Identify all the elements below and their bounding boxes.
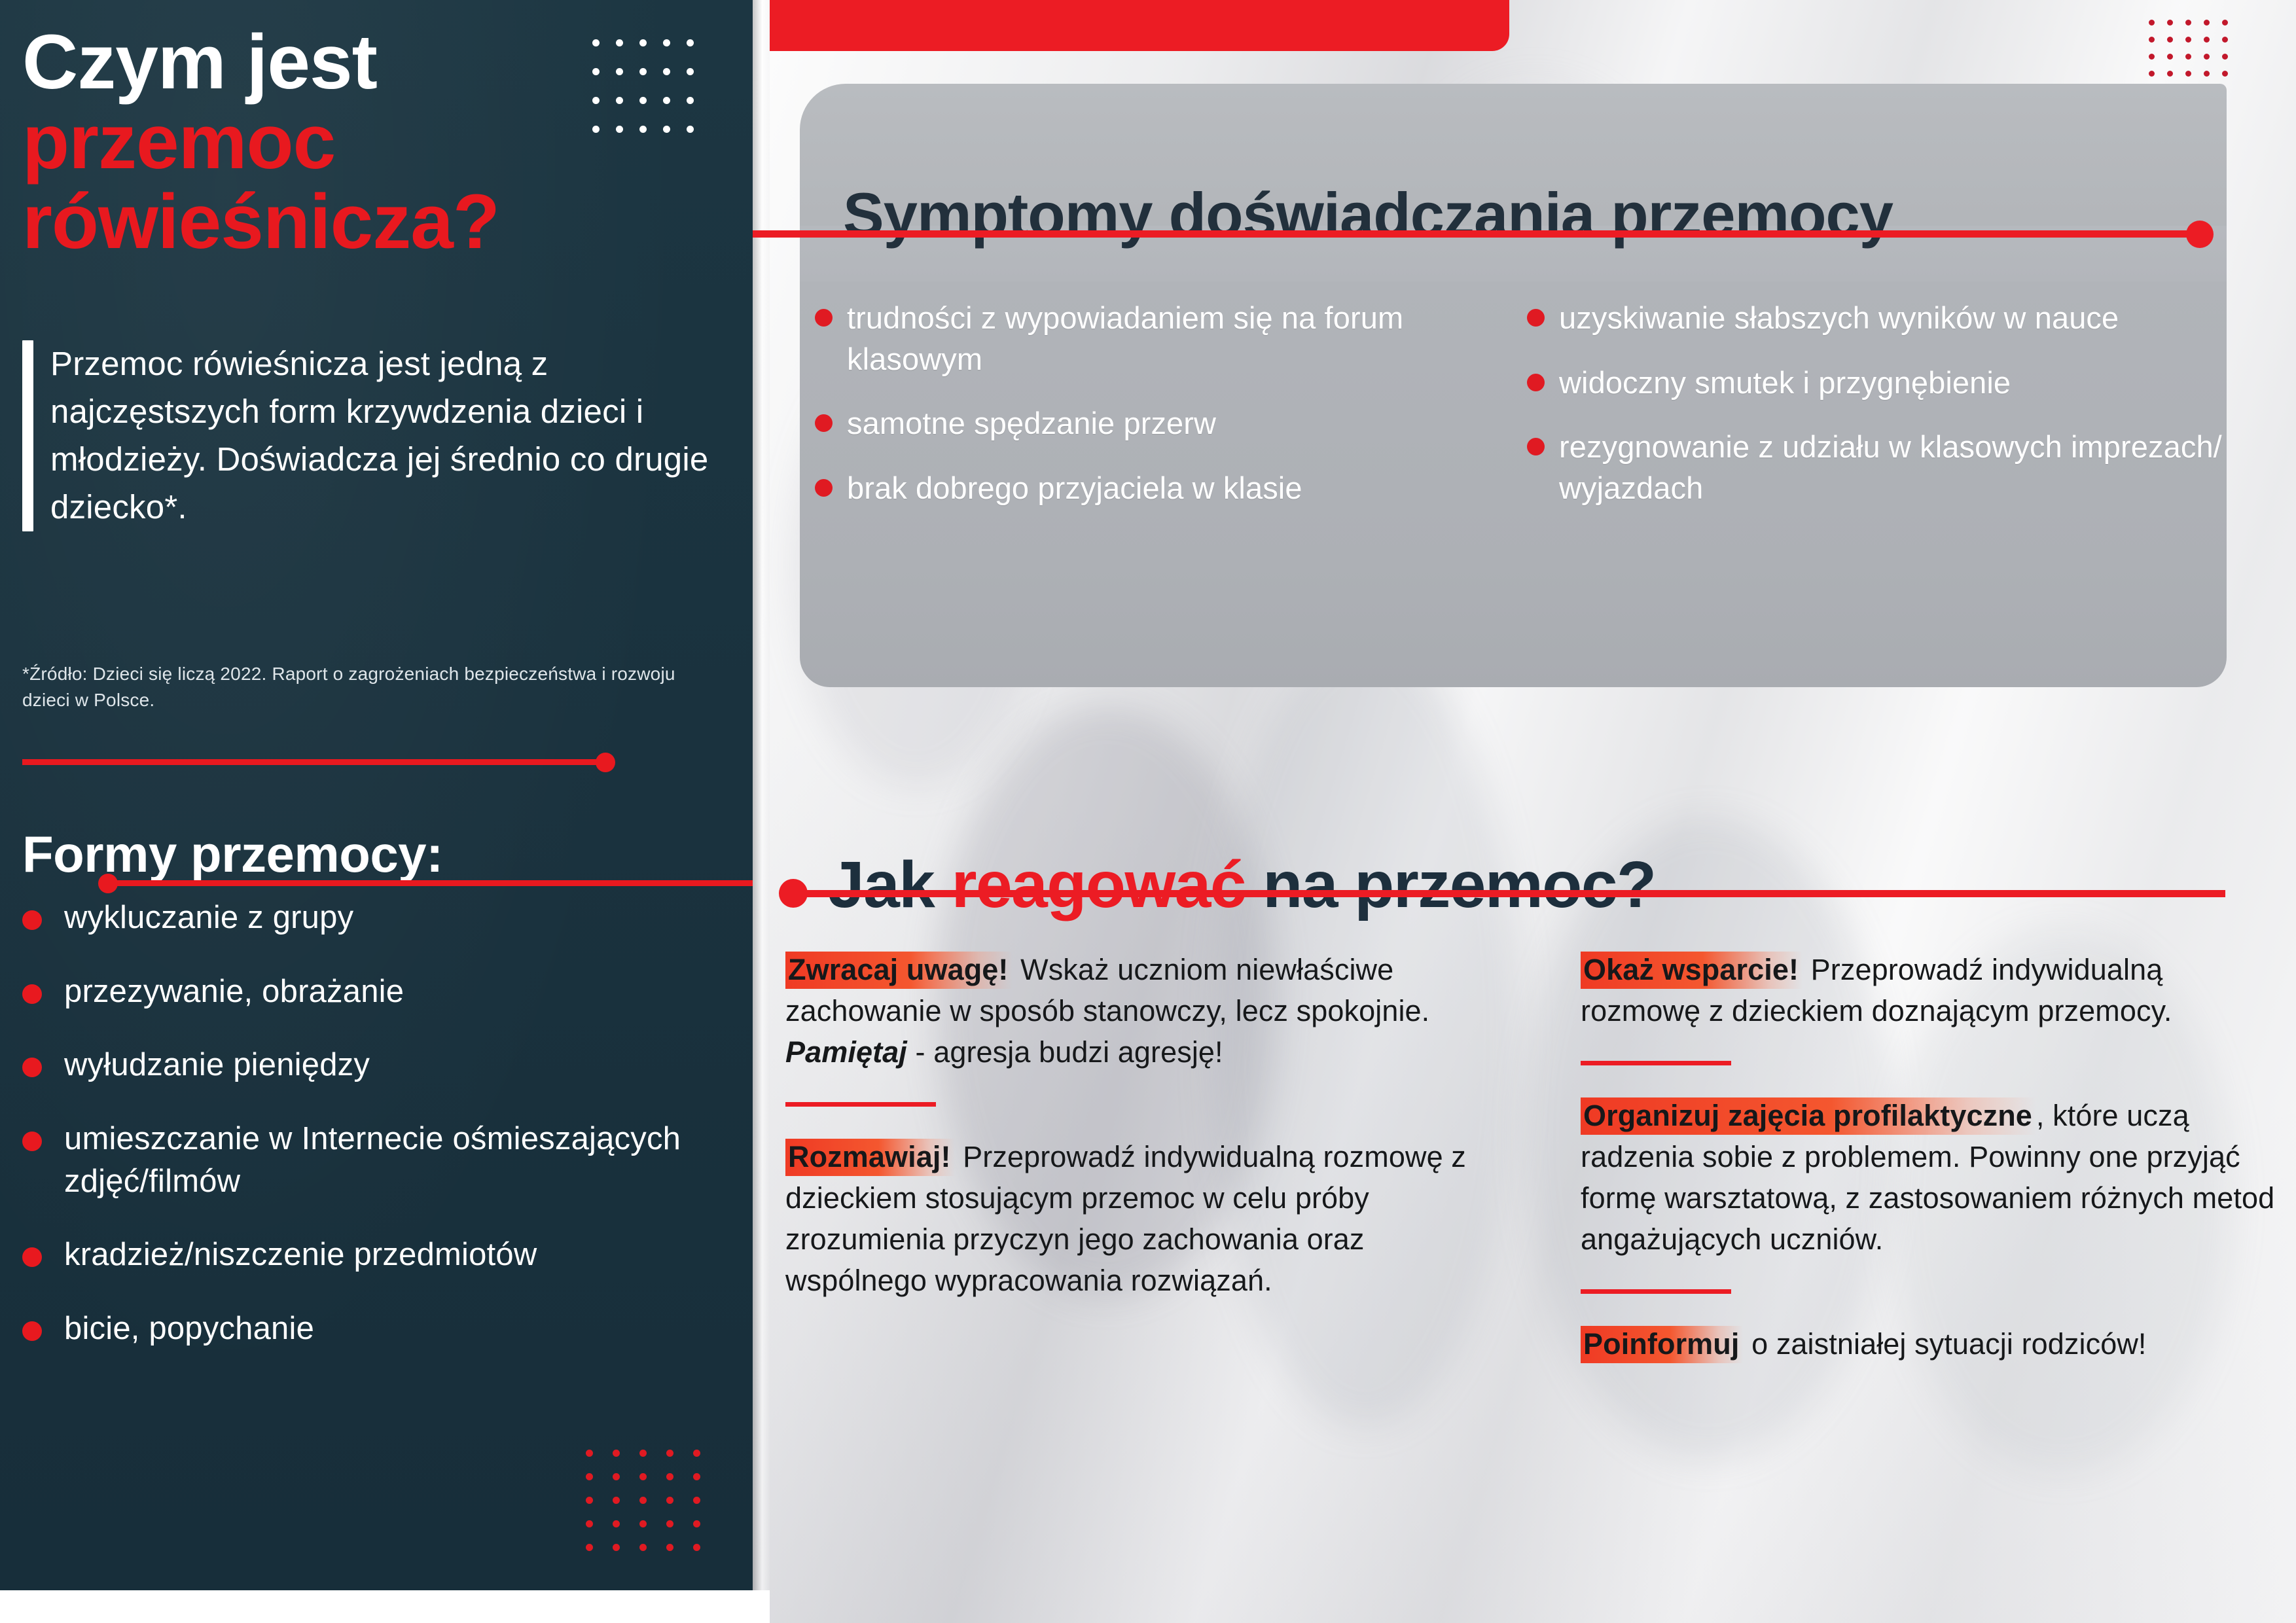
list-item: wykluczanie z grupy xyxy=(22,897,729,939)
accent-bar xyxy=(22,340,33,531)
advice-body-2: - agresja budzi agresję! xyxy=(907,1035,1223,1069)
advice-column-right: Okaż wsparcie! Przeprowadź indywidualną … xyxy=(1581,919,2291,1394)
divider-dot-right xyxy=(596,753,615,772)
symptoms-column-right: uzyskiwanie słabszych wyników w nauce wi… xyxy=(1516,298,2229,532)
list-item-label: przezywanie, obrażanie xyxy=(64,971,404,1013)
list-item: brak dobrego przyjaciela w klasie xyxy=(815,468,1516,509)
advice-block: Poinformuj o zaistniałej sytuacji rodzic… xyxy=(1581,1323,2291,1364)
lead-paragraph-block: Przemoc rówieśnicza jest jedną z najczęs… xyxy=(22,340,709,531)
poster-canvas: Czym jest przemoc rówieśnicza? Przemoc r… xyxy=(0,0,2296,1623)
bullet-icon xyxy=(22,1132,42,1151)
advice-lead: Organizuj zajęcia profilaktyczne xyxy=(1581,1097,2036,1135)
bullet-icon xyxy=(815,479,833,497)
advice-lead: Rozmawiaj! xyxy=(785,1139,955,1176)
list-item-label: trudności z wypowiadaniem się na forum k… xyxy=(847,298,1516,380)
list-item: umieszczanie w Internecie ośmieszających… xyxy=(22,1118,729,1202)
list-item-label: rezygnowanie z udziału w klasowych impre… xyxy=(1559,427,2229,508)
bullet-icon xyxy=(22,1321,42,1341)
panel-fold-edge xyxy=(753,0,770,1623)
list-item: samotne spędzanie przerw xyxy=(815,403,1516,444)
bullet-icon xyxy=(22,1247,42,1267)
list-item: rezygnowanie z udziału w klasowych impre… xyxy=(1527,427,2229,508)
list-item-label: brak dobrego przyjaciela w klasie xyxy=(847,468,1302,509)
symptoms-column-left: trudności z wypowiadaniem się na forum k… xyxy=(815,298,1516,532)
list-item: trudności z wypowiadaniem się na forum k… xyxy=(815,298,1516,380)
list-item-label: samotne spędzanie przerw xyxy=(847,403,1216,444)
advice-text: Rozmawiaj! Przeprowadź indywidualną rozm… xyxy=(785,1136,1496,1301)
page-bottom-margin xyxy=(0,1590,770,1623)
page-title: Czym jest przemoc rówieśnicza? xyxy=(22,23,611,262)
advice-text: Poinformuj o zaistniałej sytuacji rodzic… xyxy=(1581,1323,2291,1364)
bullet-icon xyxy=(22,910,42,930)
advice-columns: Zwracaj uwagę! Wskaż uczniom niewłaściwe… xyxy=(785,919,2291,1394)
list-item-label: widoczny smutek i przygnębienie xyxy=(1559,363,2011,404)
bullet-icon xyxy=(1527,309,1545,327)
lead-paragraph: Przemoc rówieśnicza jest jedną z najczęs… xyxy=(50,340,709,531)
advice-block: Organizuj zajęcia profilaktyczne, które … xyxy=(1581,1095,2291,1294)
list-item: widoczny smutek i przygnębienie xyxy=(1527,363,2229,404)
advice-text: Okaż wsparcie! Przeprowadź indywidualną … xyxy=(1581,949,2291,1031)
advice-body: o zaistniałej sytuacji rodziców! xyxy=(1743,1327,2146,1361)
list-item-label: wyłudzanie pieniędzy xyxy=(64,1044,370,1086)
divider-line-top xyxy=(22,759,605,765)
bullet-icon xyxy=(22,984,42,1004)
advice-lead: Okaż wsparcie! xyxy=(1581,952,1803,989)
list-item: przezywanie, obrażanie xyxy=(22,971,729,1013)
source-footnote: *Źródło: Dzieci się liczą 2022. Raport o… xyxy=(22,661,690,713)
symptoms-divider-line xyxy=(753,230,2196,238)
bullet-icon xyxy=(815,309,833,327)
list-item: kradzież/niszczenie przedmiotów xyxy=(22,1234,729,1276)
advice-emphasis: Pamiętaj xyxy=(785,1035,907,1069)
react-heading-part1: Jak xyxy=(828,848,952,921)
list-item-label: wykluczanie z grupy xyxy=(64,897,353,939)
list-item-label: umieszczanie w Internecie ośmieszających… xyxy=(64,1118,729,1202)
advice-lead: Zwracaj uwagę! xyxy=(785,952,1013,989)
advice-column-left: Zwracaj uwagę! Wskaż uczniom niewłaściwe… xyxy=(785,919,1496,1394)
list-item: uzyskiwanie słabszych wyników w nauce xyxy=(1527,298,2229,339)
list-item: wyłudzanie pieniędzy xyxy=(22,1044,729,1086)
react-heading-highlight: reagować xyxy=(952,848,1246,921)
title-line-3: rówieśnicza? xyxy=(22,183,611,262)
react-heading: Jak reagować na przemoc? xyxy=(828,847,1656,923)
divider-dot-left xyxy=(98,874,118,893)
white-dot-grid-icon xyxy=(592,39,710,154)
title-line-1: Czym jest xyxy=(22,23,611,103)
advice-text: Organizuj zajęcia profilaktyczne, które … xyxy=(1581,1095,2291,1260)
advice-block: Okaż wsparcie! Przeprowadź indywidualną … xyxy=(1581,949,2291,1065)
list-item-label: uzyskiwanie słabszych wyników w nauce xyxy=(1559,298,2119,339)
advice-lead: Poinformuj xyxy=(1581,1326,1743,1363)
red-dot-grid-corner-icon xyxy=(2149,20,2240,88)
advice-divider xyxy=(1581,1289,1731,1294)
list-item-label: kradzież/niszczenie przedmiotów xyxy=(64,1234,537,1276)
symptoms-heading: Symptomy doświadczania przemocy xyxy=(843,179,1893,250)
advice-text: Zwracaj uwagę! Wskaż uczniom niewłaściwe… xyxy=(785,949,1496,1073)
bullet-icon xyxy=(1527,438,1545,455)
react-heading-part2: na przemoc? xyxy=(1246,848,1656,921)
divider-line-bottom xyxy=(105,880,753,886)
bullet-icon xyxy=(815,414,833,432)
list-item-label: bicie, popychanie xyxy=(64,1308,314,1350)
bullet-icon xyxy=(22,1058,42,1077)
advice-block: Rozmawiaj! Przeprowadź indywidualną rozm… xyxy=(785,1136,1496,1301)
react-divider-dot xyxy=(779,879,808,908)
red-dot-grid-icon xyxy=(586,1450,720,1567)
top-red-bar xyxy=(770,0,1509,51)
react-divider-line xyxy=(795,890,2225,897)
forms-heading: Formy przemocy: xyxy=(22,825,443,884)
symptoms-divider-dot xyxy=(2186,221,2214,248)
symptoms-columns: trudności z wypowiadaniem się na forum k… xyxy=(815,298,2229,532)
forms-list: wykluczanie z grupy przezywanie, obrażan… xyxy=(22,897,729,1382)
advice-divider xyxy=(785,1102,936,1107)
advice-block: Zwracaj uwagę! Wskaż uczniom niewłaściwe… xyxy=(785,949,1496,1107)
list-item: bicie, popychanie xyxy=(22,1308,729,1350)
advice-divider xyxy=(1581,1061,1731,1065)
bullet-icon xyxy=(1527,374,1545,391)
title-line-2: przemoc xyxy=(22,103,611,183)
